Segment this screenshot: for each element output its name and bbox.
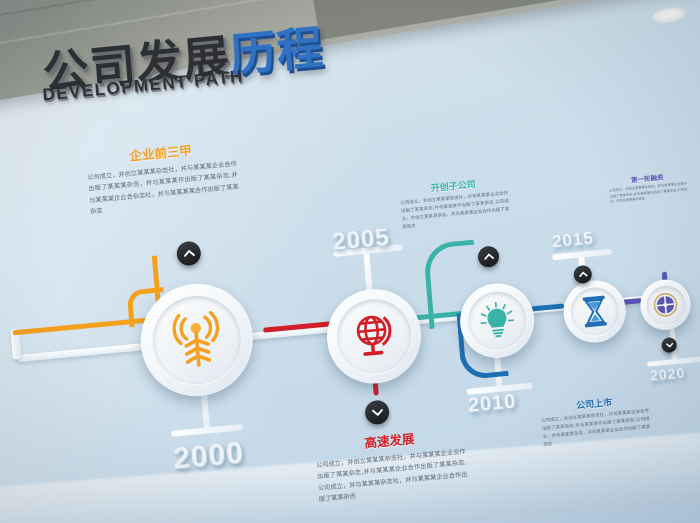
broadcast-tower-icon: [168, 309, 226, 372]
milestone-body-2000: 公司成立，并创立某某某杂志社，并与某某某企业合作出版了某某某杂志，并与某某某作出…: [87, 159, 240, 219]
year-label-2020: 2020: [649, 364, 685, 383]
milestone-node-2020[interactable]: [639, 278, 693, 333]
year-label-2015: 2015: [551, 228, 594, 252]
page-title: 公司发展历程 DEVELOPMENT PATH: [36, 5, 373, 136]
milestone-node-2015[interactable]: [561, 278, 628, 346]
milestone-text-2015: 公司上市 公司成立，并创立某某某杂志社，并与某某某企业合作出版了某某杂志,并与某…: [540, 392, 651, 450]
chevron-down-icon-2005[interactable]: [364, 399, 390, 425]
hourglass-icon: [580, 294, 610, 329]
year-label-2005: 2005: [331, 224, 390, 257]
milestone-body-2015: 公司成立，并创立某某某杂志社，并与某某某企业合作出版了某某杂志,并与某某某作出版…: [541, 408, 651, 450]
milestone-node-2005[interactable]: [323, 285, 424, 388]
milestone-body-2005: 公司成立，并创立某某某杂志社，并与某某某企业合作出版了某某杂志,并与某某某企业合…: [316, 446, 469, 506]
lightbulb-icon: [477, 299, 518, 342]
milestone-text-2010: 开创子公司 公司成立，并创立某某某杂志社，并与某某某企业合作出版了某某杂志,并与…: [399, 174, 510, 232]
timeline-board: 公司发展历程 DEVELOPMENT PATH: [0, 0, 700, 523]
milestone-text-2020: 第一轮融资 公司成立，并创立某某某杂志社，并与某某某企业合作出版了某某杂志,并与…: [608, 169, 688, 205]
milestone-body-2010: 公司成立，并创立某某某杂志社，并与某某某企业合作出版了某某杂志,并与某某某作出版…: [400, 190, 510, 232]
milestone-text-2000: 企业前三甲 公司成立，并创立某某某杂志社，并与某某某企业合作出版了某某某杂志，并…: [85, 136, 240, 219]
milestone-text-2005: 高速发展 公司成立，并创立某某某杂志社，并与某某某企业合作出版了某某杂志,并与某…: [314, 423, 469, 506]
chevron-up-icon-2000[interactable]: [176, 240, 202, 266]
year-label-2010: 2010: [467, 390, 517, 417]
year-label-2000: 2000: [172, 436, 245, 477]
chevron-up-icon-2010[interactable]: [477, 245, 500, 268]
compass-icon: [651, 291, 679, 319]
wall-display-photo: 公司发展历程 DEVELOPMENT PATH: [0, 0, 700, 523]
globe-icon: [349, 310, 399, 362]
